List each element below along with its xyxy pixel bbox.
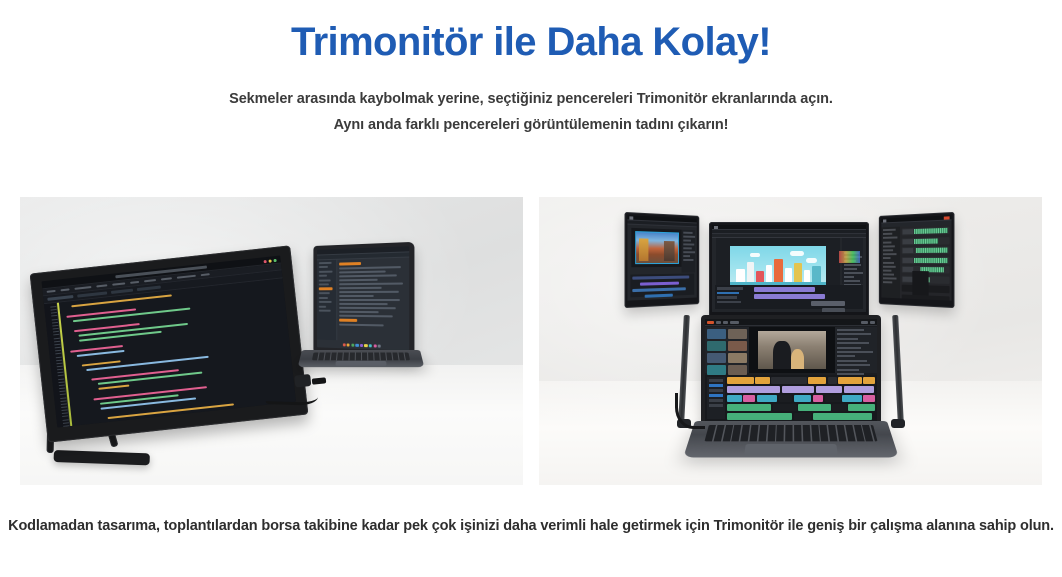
laptop-trackpad — [336, 361, 386, 366]
program-monitor — [749, 327, 835, 373]
photo-thumbnail-street — [636, 232, 678, 263]
laptop-base — [683, 421, 899, 457]
laptop-screen — [317, 246, 409, 351]
timeline-row-audio — [727, 404, 875, 411]
monitor-screen-code-editor — [41, 255, 295, 427]
media-bin-thumbnails — [705, 327, 749, 373]
daw-track-browser — [881, 227, 900, 299]
timeline-row-graphics — [727, 386, 875, 393]
timeline-track-headers — [707, 377, 725, 419]
arm-foot-right — [891, 419, 905, 428]
page-title: Trimonitör ile Daha Kolay! — [0, 18, 1062, 66]
laptop-lid — [313, 242, 414, 356]
laptop-trackpad — [744, 444, 838, 456]
laptop-keyboard — [312, 352, 411, 360]
inspector-panel — [835, 327, 877, 373]
tri-monitor-rig — [539, 197, 1042, 485]
laptop-keyboard — [705, 425, 877, 441]
window-control-dots — [263, 258, 276, 262]
monitor-center-motion-graphics — [709, 222, 869, 319]
photo-portable-monitor-with-laptop — [20, 197, 523, 485]
color-swatch-strip — [839, 251, 860, 263]
effects-panel — [842, 238, 863, 284]
editor-source-lines — [59, 278, 296, 426]
laptop-app-content — [337, 258, 409, 343]
section-caption: Kodlamadan tasarıma, toplantılardan bors… — [0, 518, 1062, 534]
subtitle-line-2: Aynı anda farklı pencereleri görüntüleme… — [0, 112, 1062, 138]
composition-city-skyline — [730, 246, 826, 286]
laptop-base — [298, 350, 425, 367]
subtitle-line-1: Sekmeler arasında kaybolmak yerine, seçt… — [0, 86, 1062, 112]
laptop-app-sidebar — [317, 260, 337, 340]
subtitle-block: Sekmeler arasında kaybolmak yerine, seçt… — [0, 86, 1062, 138]
timeline-layer-list — [717, 287, 745, 307]
monitor-left-photo-editor — [625, 212, 700, 308]
editor-code-area — [44, 278, 296, 427]
timeline-row-video — [727, 395, 875, 402]
laptop-lid — [701, 315, 881, 425]
laptop-dock — [324, 342, 401, 350]
landing-page-section: Trimonitör ile Daha Kolay! Sekmeler aras… — [0, 0, 1062, 577]
video-editor-timeline — [705, 375, 877, 421]
monitor-right-audio-workstation — [879, 212, 955, 308]
laptop-screen-video-editor — [705, 319, 877, 421]
timeline-row-audio-2 — [727, 413, 875, 420]
photo-editor-timeline — [630, 273, 694, 297]
timeline-tracks — [747, 287, 861, 307]
timeline-row-titles — [727, 377, 875, 384]
daw-plugin-window — [912, 271, 928, 296]
photo-tri-monitor-rig — [539, 197, 1042, 485]
portable-monitor — [30, 245, 309, 442]
photo-canvas — [631, 228, 682, 267]
laptop — [695, 315, 887, 485]
composition-timeline — [715, 285, 863, 309]
mounting-arm-right — [892, 315, 904, 423]
photo-gallery — [20, 197, 1042, 485]
photo-editor-panel — [682, 230, 696, 273]
video-editor-toolbar — [705, 319, 877, 326]
video-frame-kitchen-scene — [758, 331, 825, 370]
laptop — [302, 244, 420, 399]
